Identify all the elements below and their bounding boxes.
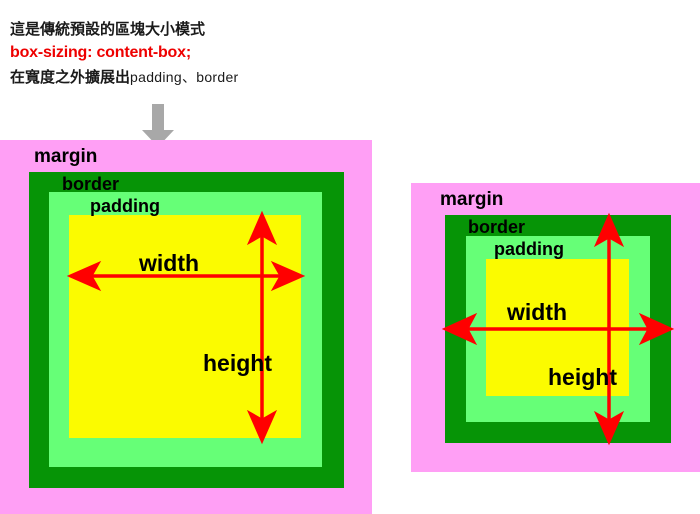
label-padding: padding bbox=[494, 239, 564, 260]
double-arrow-vertical-icon bbox=[248, 212, 276, 443]
label-border: border bbox=[62, 174, 119, 195]
border-box-panel: 這是CSS3新的區塊大小模式 box-sizing: border-box; 在… bbox=[400, 0, 700, 514]
content-box-measure-arrows bbox=[0, 0, 400, 514]
label-width: width bbox=[507, 299, 567, 326]
label-height: height bbox=[548, 364, 617, 391]
label-height: height bbox=[203, 350, 272, 377]
label-width: width bbox=[139, 250, 199, 277]
label-padding: padding bbox=[90, 196, 160, 217]
label-border: border bbox=[468, 217, 525, 238]
label-margin: margin bbox=[440, 189, 503, 211]
label-margin: margin bbox=[34, 146, 97, 168]
content-box-panel: 這是傳統預設的區塊大小模式 box-sizing: content-box; 在… bbox=[0, 0, 400, 514]
